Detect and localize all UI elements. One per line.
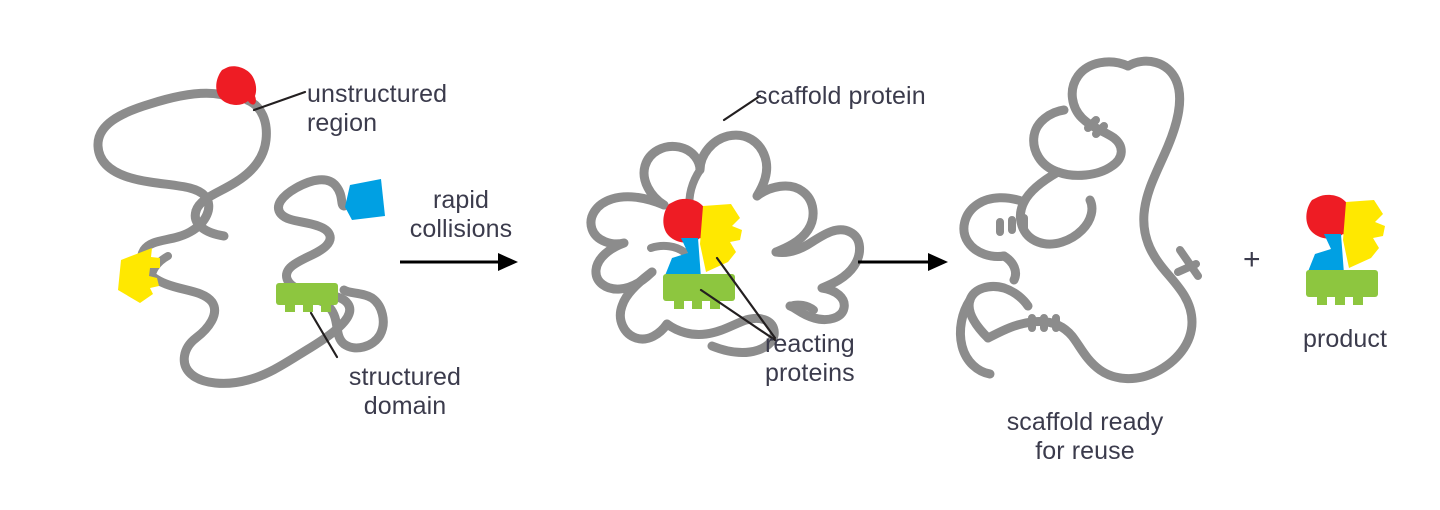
panel-scaffold-reuse [960, 61, 1198, 378]
complex-green-block [663, 274, 735, 309]
label-scaffold-protein: scaffold protein [755, 82, 926, 111]
figure-canvas [0, 0, 1440, 510]
reuse-chain-lower-left [1004, 256, 1016, 280]
reuse-teeth-right [1178, 250, 1198, 276]
complex-chain-stub-mid [651, 246, 684, 252]
complex-chain-left-lower [620, 272, 667, 339]
panel-assembled-complex [591, 96, 860, 353]
arrow-to-reuse [858, 253, 948, 271]
complex-chain-bottom [667, 318, 774, 352]
reuse-teeth-bottom [1032, 318, 1056, 328]
product-blue-wedge [1307, 234, 1344, 274]
label-rapid-collisions: rapid collisions [404, 186, 518, 244]
leader-unstructured-region [254, 92, 305, 110]
reuse-chain-left-loop [1020, 172, 1091, 244]
green-block-shape [276, 283, 338, 312]
label-unstructured-region: unstructured region [307, 80, 447, 138]
red-blob-shape [216, 66, 256, 105]
arrow-rapid-collisions [400, 253, 518, 271]
reuse-chain-mid [1034, 110, 1064, 136]
scaffold-chain-upper [196, 100, 266, 211]
label-reacting-proteins: reacting proteins [765, 330, 855, 388]
label-scaffold-ready-for-reuse: scaffold ready for reuse [970, 408, 1200, 466]
panel-product [1306, 195, 1385, 305]
scaffold-protein-figure: unstructured region rapid collisions str… [0, 0, 1440, 510]
label-structured-domain: structured domain [325, 363, 485, 421]
product-green-block [1306, 270, 1378, 305]
product-yellow-polygon [1343, 200, 1385, 268]
plus-symbol: + [1243, 243, 1261, 277]
blue-wedge-shape [345, 179, 385, 220]
label-product: product [1265, 325, 1425, 354]
